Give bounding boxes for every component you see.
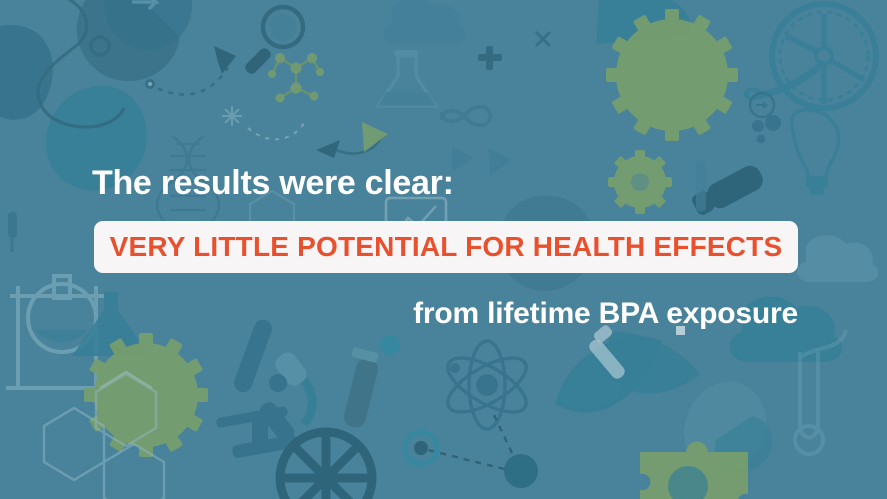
- highlight-box: VERY LITTLE POTENTIAL FOR HEALTH EFFECTS: [94, 221, 798, 273]
- headline-highlight: VERY LITTLE POTENTIAL FOR HEALTH EFFECTS: [110, 231, 783, 263]
- infographic-slide: The results were clear: VERY LITTLE POTE…: [0, 0, 887, 499]
- headline-primary: The results were clear:: [92, 164, 454, 203]
- headline-secondary: from lifetime BPA exposure: [0, 297, 798, 331]
- text-content: The results were clear: VERY LITTLE POTE…: [0, 0, 887, 499]
